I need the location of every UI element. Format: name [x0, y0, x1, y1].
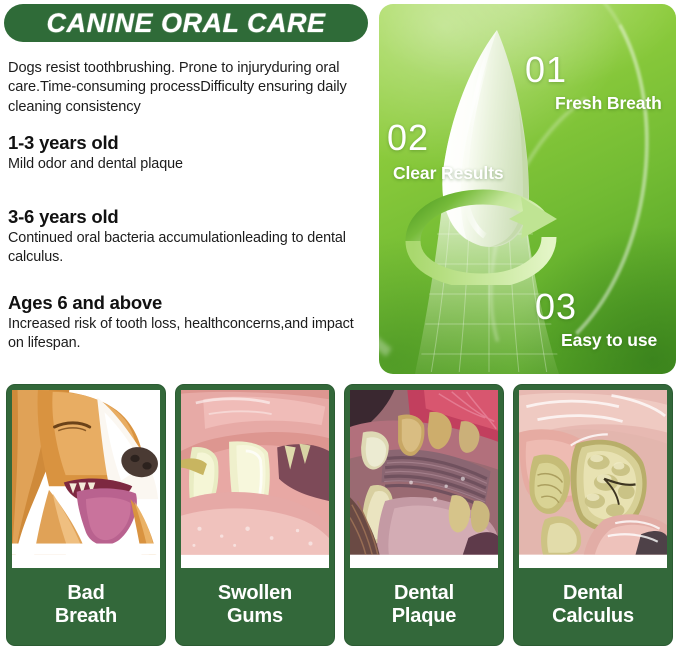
hero-benefits-panel: 01 Fresh Breath 02 Clear Results 03 Easy… [379, 4, 676, 374]
age-stage-heading: 1-3 years old [8, 132, 366, 154]
symptom-card: Bad Breath [6, 384, 166, 646]
age-stage-body: Increased risk of tooth loss, healthconc… [8, 315, 366, 353]
card-photo-frame [181, 390, 329, 568]
card-caption: Dental Plaque [345, 568, 503, 645]
intro-paragraph: Dogs resist toothbrushing. Prone to inju… [8, 59, 364, 118]
symptom-card: Swollen Gums [175, 384, 335, 646]
left-info-column: CANINE ORAL CARE Dogs resist toothbrushi… [0, 0, 374, 378]
dog-panting-open-mouth-photo [12, 390, 160, 555]
benefit-label: Easy to use [561, 332, 657, 350]
age-stage-heading: Ages 6 and above [8, 292, 366, 314]
benefit-number: 02 [387, 120, 429, 156]
symptom-card: Dental Calculus [513, 384, 673, 646]
dental-calculus-closeup-photo [519, 390, 667, 555]
swollen-gums-closeup-photo [181, 390, 329, 555]
age-stage-block: Ages 6 and above Increased risk of tooth… [8, 292, 366, 353]
card-caption: Dental Calculus [514, 568, 672, 645]
page-title: CANINE ORAL CARE [46, 10, 325, 37]
age-stage-body: Mild odor and dental plaque [8, 155, 366, 174]
age-stage-block: 1-3 years old Mild odor and dental plaqu… [8, 132, 366, 174]
age-stage-block: 3-6 years old Continued oral bacteria ac… [8, 206, 366, 267]
benefit-label: Fresh Breath [555, 95, 662, 113]
benefit-label: Clear Results [393, 165, 504, 183]
symptom-card: Dental Plaque [344, 384, 504, 646]
rotating-arrow-icon [399, 189, 561, 285]
symptom-cards-row: Bad Breath [0, 384, 679, 646]
age-stage-body: Continued oral bacteria accumulationlead… [8, 229, 366, 267]
card-photo-frame [12, 390, 160, 568]
card-photo-frame [519, 390, 667, 568]
title-banner: CANINE ORAL CARE [4, 4, 368, 42]
benefit-number: 01 [525, 52, 567, 88]
age-stage-heading: 3-6 years old [8, 206, 366, 228]
card-photo-frame [350, 390, 498, 568]
card-caption: Bad Breath [7, 568, 165, 645]
dental-plaque-closeup-photo [350, 390, 498, 555]
top-section: CANINE ORAL CARE Dogs resist toothbrushi… [0, 0, 679, 378]
benefit-number: 03 [535, 289, 577, 325]
card-caption: Swollen Gums [176, 568, 334, 645]
